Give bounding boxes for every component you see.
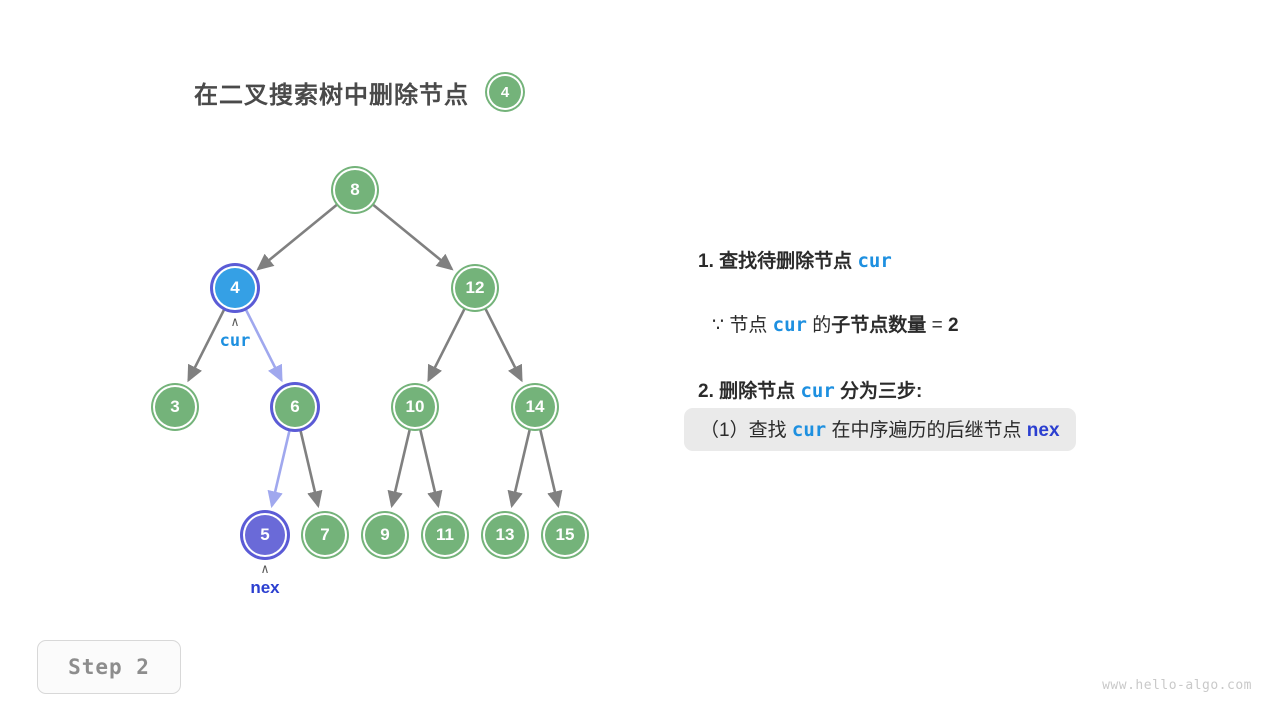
- pointer-label-cur: ∧cur: [195, 318, 275, 351]
- reason-part2: 的: [812, 315, 831, 336]
- tree-edge: [373, 205, 452, 269]
- tree-node-10[interactable]: 10: [393, 385, 437, 429]
- tree-node-13[interactable]: 13: [483, 513, 527, 557]
- caret-icon: ∧: [195, 318, 275, 328]
- tree-edges: [0, 0, 1280, 720]
- tree-edge: [420, 429, 438, 505]
- tree-edge: [485, 309, 521, 381]
- step2-text-after: 分为三步:: [840, 381, 922, 402]
- reason-equals: =: [932, 315, 943, 336]
- step2-text-before: 删除节点: [719, 381, 795, 402]
- tree-edge: [512, 429, 530, 505]
- pointer-name-nex: nex: [225, 578, 305, 598]
- diagram-canvas: 在二叉搜索树中删除节点 4 8412361014579111315 ∧cur∧n…: [0, 0, 1280, 720]
- tree-node-14[interactable]: 14: [513, 385, 557, 429]
- step2-prefix: 2.: [698, 381, 714, 402]
- reason-because-symbol: ∵: [712, 315, 724, 336]
- tree-node-8[interactable]: 8: [333, 168, 377, 212]
- substep1-index: （1）: [700, 420, 749, 441]
- panel-reason: ∵ 节点 cur 的子节点数量 = 2: [712, 310, 959, 337]
- tree-edge: [540, 429, 558, 505]
- substep1-text-before: 查找: [749, 420, 787, 441]
- pointer-name-cur: cur: [195, 331, 275, 351]
- tree-edge: [258, 205, 337, 269]
- tree-edge: [429, 309, 465, 381]
- tree-edge: [392, 429, 410, 505]
- tree-node-6[interactable]: 6: [273, 385, 317, 429]
- panel-substep-1: （1）查找 cur 在中序遍历的后继节点 nex: [684, 408, 1076, 451]
- tree-node-15[interactable]: 15: [543, 513, 587, 557]
- substep1-var-nex: nex: [1027, 420, 1060, 441]
- tree-node-12[interactable]: 12: [453, 266, 497, 310]
- panel-step-1: 1. 查找待删除节点 cur: [698, 246, 892, 273]
- reason-part1: 节点: [729, 315, 767, 336]
- tree-node-3[interactable]: 3: [153, 385, 197, 429]
- substep1-var-cur: cur: [792, 419, 826, 441]
- panel-step-2: 2. 删除节点 cur 分为三步:: [698, 376, 922, 403]
- step1-var-cur: cur: [857, 250, 891, 272]
- reason-bold: 子节点数量: [831, 315, 926, 336]
- watermark: www.hello-algo.com: [1102, 678, 1252, 693]
- step-badge: Step 2: [37, 640, 181, 694]
- reason-var-cur: cur: [773, 314, 807, 336]
- step1-text: 查找待删除节点: [719, 251, 852, 272]
- step2-var-cur: cur: [800, 380, 834, 402]
- pointer-label-nex: ∧nex: [225, 565, 305, 598]
- caret-icon: ∧: [225, 565, 305, 575]
- step1-prefix: 1.: [698, 251, 714, 272]
- tree-node-9[interactable]: 9: [363, 513, 407, 557]
- substep1-text-mid: 在中序遍历的后继节点: [831, 420, 1021, 441]
- tree-node-7[interactable]: 7: [303, 513, 347, 557]
- reason-value: 2: [948, 315, 959, 336]
- tree-node-4[interactable]: 4: [213, 266, 257, 310]
- tree-node-5[interactable]: 5: [243, 513, 287, 557]
- tree-node-11[interactable]: 11: [423, 513, 467, 557]
- tree-edge: [272, 429, 290, 505]
- tree-edge: [300, 429, 318, 505]
